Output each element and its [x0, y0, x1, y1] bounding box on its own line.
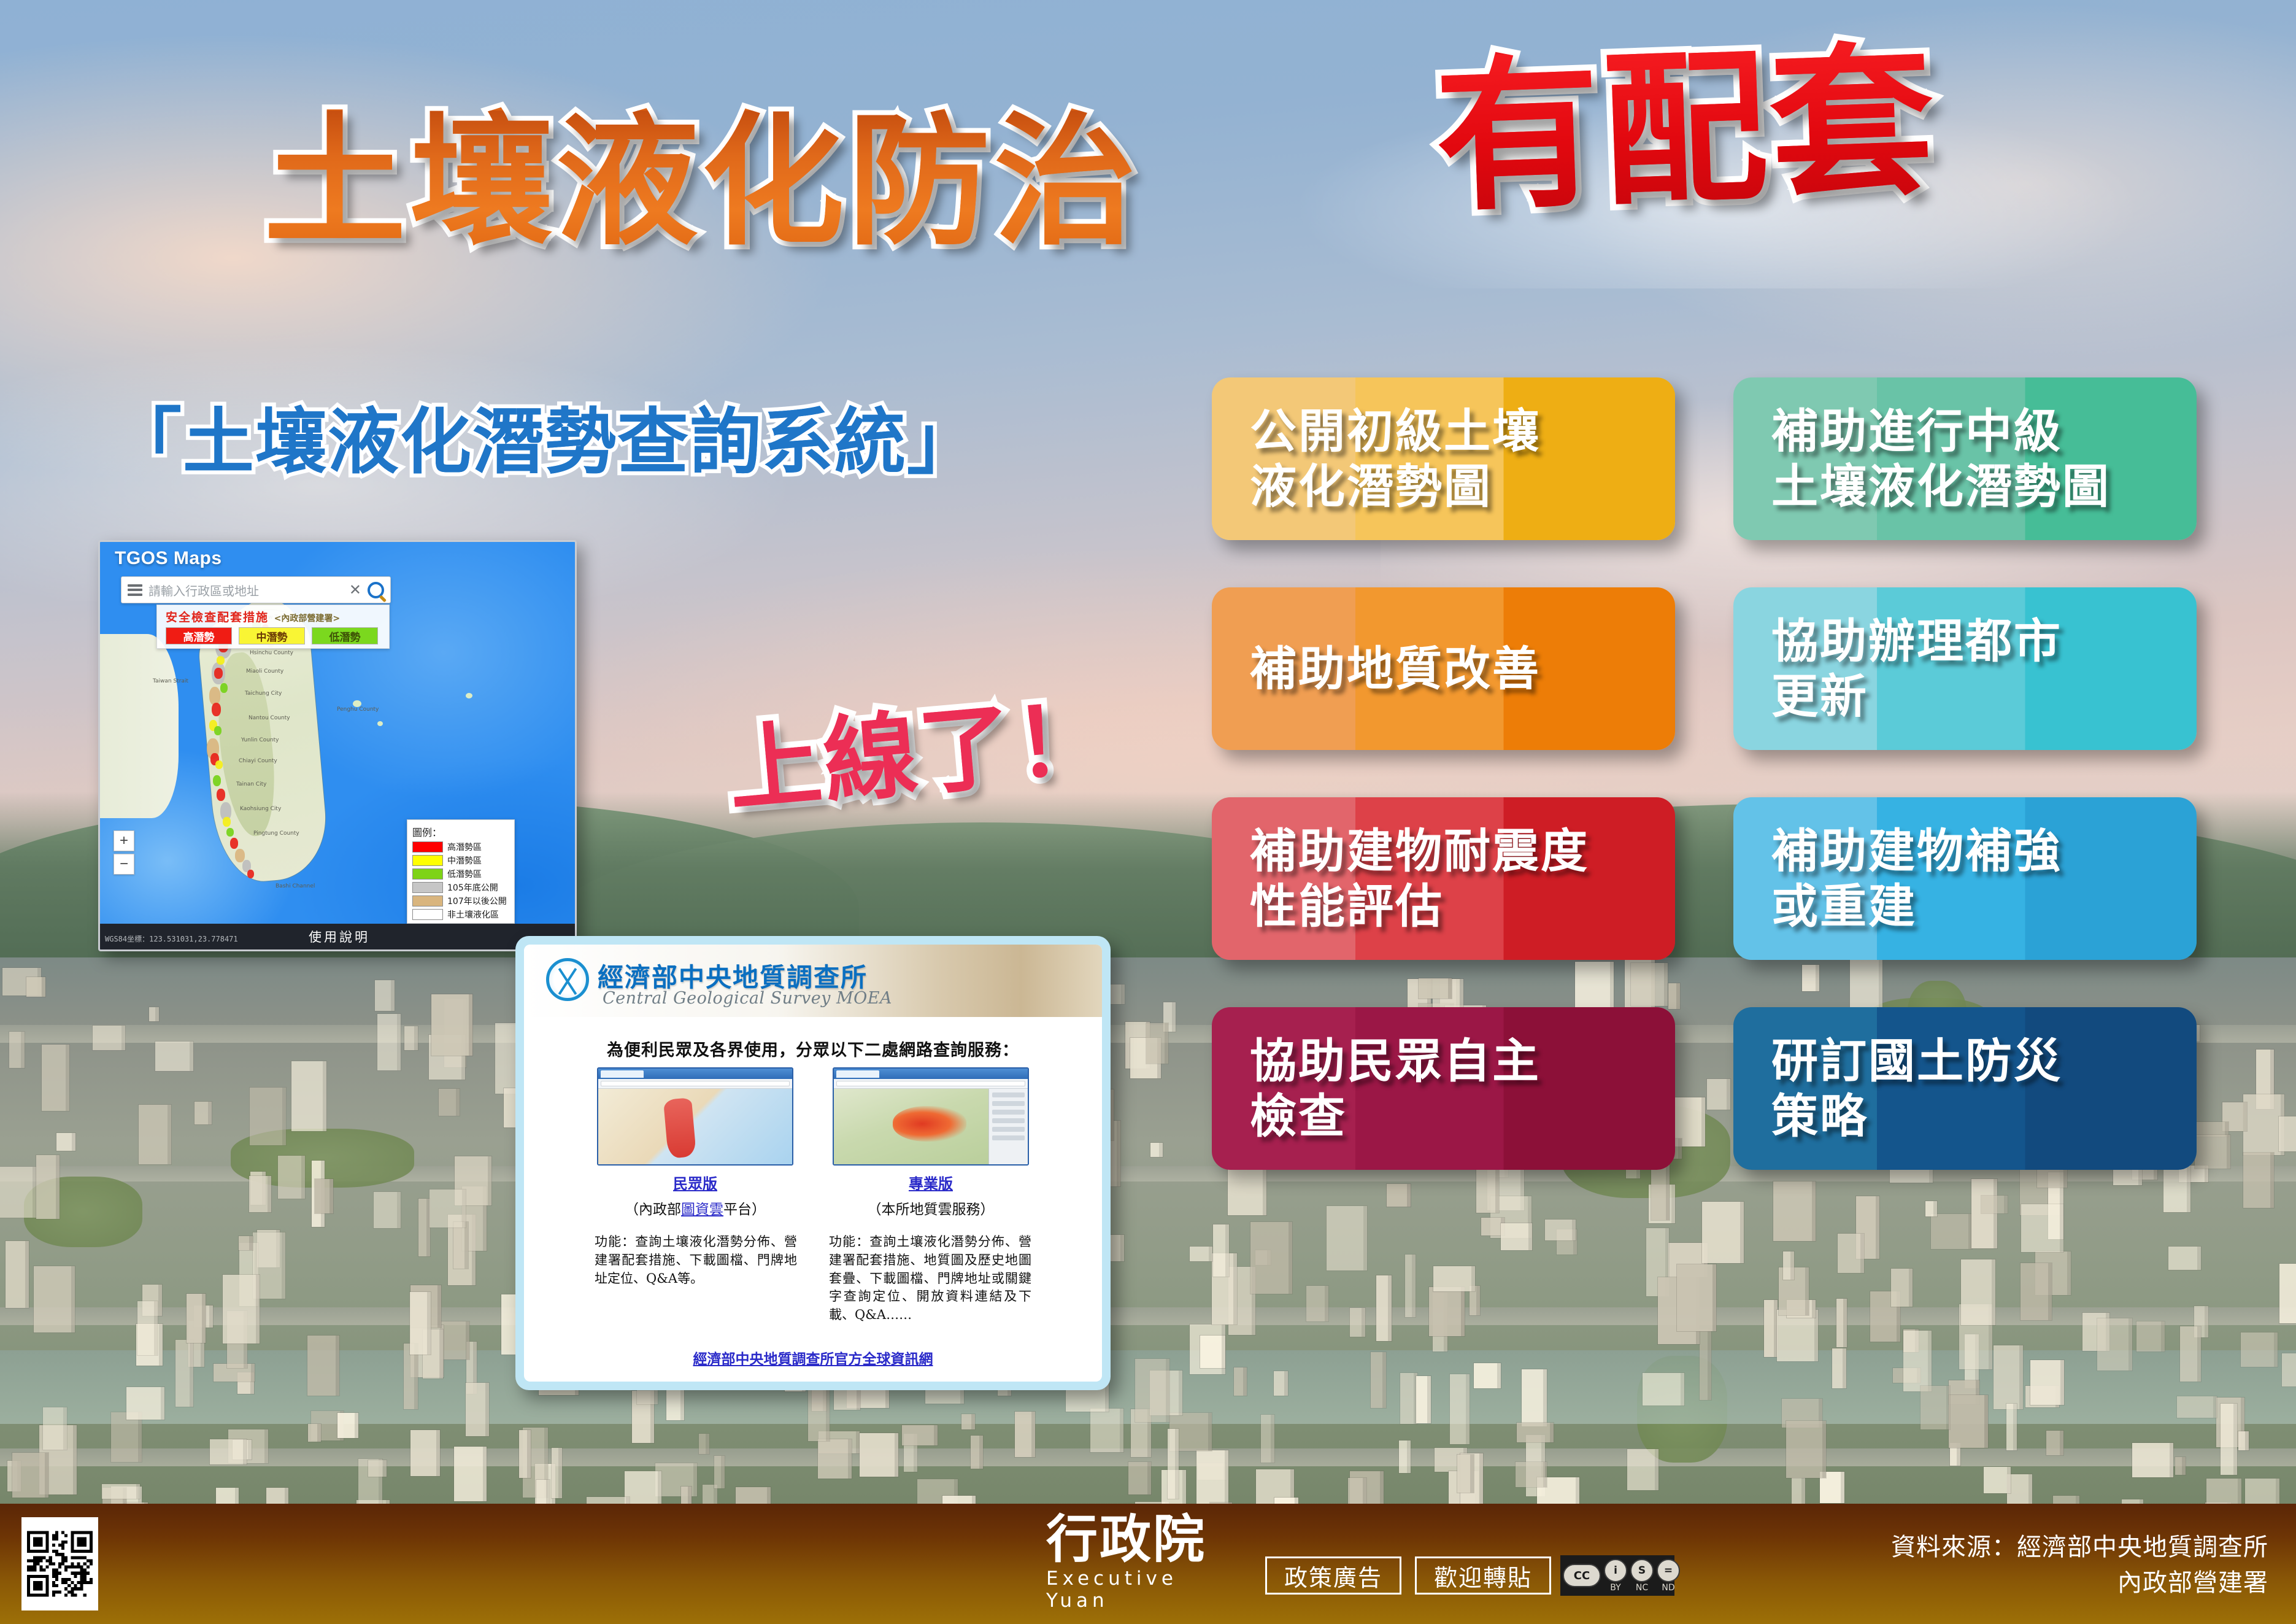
measures-agency: <內政部營建署> — [274, 614, 340, 624]
map-coordinates: WGS84坐標：123.531031,23.778471 — [105, 934, 238, 944]
city-building — [410, 1292, 431, 1355]
sub-suffix: 平台） — [723, 1202, 766, 1218]
city-building — [860, 1433, 898, 1476]
policy-ad-badge: 政策廣告 — [1265, 1556, 1401, 1595]
city-building — [1405, 1255, 1416, 1317]
share-welcome-badge: 歡迎轉貼 — [1415, 1556, 1551, 1595]
browser-tab — [601, 1070, 644, 1078]
city-building — [2177, 1396, 2217, 1418]
city-building — [552, 1448, 562, 1498]
city-building — [453, 1222, 468, 1268]
city-building — [307, 1336, 339, 1396]
city-building — [1450, 1374, 1470, 1445]
city-building — [431, 994, 472, 1055]
city-building — [56, 1133, 75, 1151]
city-building — [223, 1275, 260, 1344]
measure-card-8[interactable]: 研訂國土防災 策略 — [1733, 1007, 2197, 1170]
measure-card-label: 補助建物耐震度 性能評估 — [1212, 824, 1589, 934]
liquefaction-zone — [223, 817, 231, 827]
zoom-in-button[interactable]: + — [114, 830, 134, 851]
map-place-label: Taichung City — [245, 690, 282, 697]
liquefaction-zone — [213, 775, 221, 786]
measure-card-6[interactable]: 補助建物補強 或重建 — [1733, 797, 2197, 960]
liquefaction-zone — [217, 656, 225, 665]
city-building — [1764, 1300, 1778, 1357]
city-building — [2175, 1457, 2185, 1475]
city-building — [1522, 1369, 1547, 1426]
mini-map-public — [598, 1089, 792, 1164]
city-building — [1146, 1023, 1168, 1064]
city-building — [1213, 1224, 1229, 1277]
city-building — [1838, 1234, 1864, 1274]
city-building — [1643, 1373, 1684, 1405]
measure-button-2[interactable]: 中潛勢 — [239, 627, 305, 644]
legend-label: 中潛勢區 — [447, 854, 482, 867]
card-row: 補助地質改善協助辦理都市 更新 — [1212, 587, 2255, 750]
cgs-official-site-link[interactable]: 經濟部中央地質調查所官方全球資訊網 — [524, 1347, 1102, 1368]
city-building — [971, 1436, 983, 1469]
city-building — [2238, 1431, 2248, 1451]
measure-button-group[interactable]: 高潛勢中潛勢低潛勢 — [157, 626, 389, 644]
browser-addressbar — [598, 1079, 792, 1089]
city-building — [1920, 1386, 1950, 1429]
city-building — [1783, 1251, 1794, 1280]
card-row: 公開初級土壤 液化潛勢圖補助進行中級 土壤液化潛勢圖 — [1212, 377, 2255, 540]
city-building — [377, 1014, 401, 1070]
liquefaction-zone — [235, 849, 245, 862]
qr-code-icon[interactable] — [21, 1517, 98, 1610]
city-building — [250, 1088, 286, 1146]
city-building — [1250, 1222, 1292, 1294]
search-icon[interactable] — [368, 582, 384, 598]
usage-help-link[interactable]: 使用說明 — [309, 927, 370, 946]
legend-label: 低潛勢區 — [447, 868, 482, 880]
executive-yuan-logo: 行政院 Executive Yuan — [1046, 1515, 1224, 1613]
city-building — [1376, 1275, 1392, 1341]
city-building — [42, 1045, 69, 1111]
city-building — [430, 1189, 466, 1227]
measures-title-row: 安全檢查配套措施 <內政部營建署> — [157, 605, 389, 626]
card-row: 補助建物耐震度 性能評估補助建物補強 或重建 — [1212, 797, 2255, 960]
city-building — [291, 1061, 326, 1131]
city-building — [1261, 1415, 1274, 1463]
city-building — [1961, 1259, 1995, 1325]
city-building — [1832, 1348, 1846, 1388]
legend-title: 圖例： — [412, 824, 509, 839]
city-building — [175, 1340, 193, 1407]
city-building — [699, 1434, 709, 1454]
city-building — [2132, 1443, 2173, 1477]
browser-tab — [836, 1070, 879, 1078]
cgs-col-public: 民眾版 （內政部圖資雲平台） — [597, 1172, 793, 1218]
map-place-label: Chiayi County — [239, 758, 277, 764]
map-legend: 圖例： 高潛勢區中潛勢區低潛勢區105年底公開107年以後公開非土壤液化區 — [407, 819, 515, 924]
legend-swatch — [412, 895, 443, 907]
city-building — [195, 1102, 212, 1124]
mini-side-panel — [988, 1089, 1028, 1164]
city-building — [1306, 1286, 1328, 1321]
city-building — [1677, 1264, 1716, 1331]
measure-card-5[interactable]: 補助建物耐震度 性能評估 — [1212, 797, 1675, 960]
mini-taiwan-shape — [663, 1097, 696, 1159]
map-place-label: Hsinchu County — [250, 650, 293, 656]
island-small-a — [377, 721, 383, 726]
cgs-col-pro: 專業版 （本所地質雲服務） — [833, 1172, 1029, 1218]
city-building — [1015, 1412, 1035, 1457]
city-building — [1200, 1336, 1226, 1368]
cgs-screenshot-window[interactable]: 經濟部中央地質調查所 Central Geological Survey MOE… — [515, 936, 1111, 1390]
city-building — [1400, 1373, 1417, 1424]
liquefaction-zone — [214, 668, 223, 679]
city-building — [1994, 1345, 2023, 1409]
measure-card-2[interactable]: 補助進行中級 土壤液化潛勢圖 — [1733, 377, 2197, 540]
city-building — [1517, 1423, 1554, 1442]
liquefaction-zone — [226, 828, 234, 837]
city-building — [2221, 1404, 2237, 1475]
hamburger-icon[interactable] — [128, 584, 142, 596]
city-building — [187, 1294, 206, 1344]
map-place-label: Pingtung County — [253, 830, 299, 837]
city-building — [1786, 1421, 1826, 1478]
cc-by: iBY — [1604, 1559, 1627, 1593]
map-place-label: Bashi Channel — [275, 883, 315, 889]
link-tuziyun[interactable]: 圖資雲 — [681, 1202, 723, 1218]
city-building — [1457, 1455, 1474, 1493]
map-place-label: Nantou County — [248, 715, 290, 721]
measures-panel: 安全檢查配套措施 <內政部營建署> 高潛勢中潛勢低潛勢 — [156, 605, 390, 649]
legend-label: 高潛勢區 — [447, 841, 482, 853]
cgs-page: 經濟部中央地質調查所 Central Geological Survey MOE… — [524, 945, 1102, 1382]
measure-card-label: 補助建物補強 或重建 — [1733, 824, 2062, 934]
cgs-lead-text: 為便利民眾及各界使用，分眾以下二處網路查詢服務： — [524, 1037, 1102, 1061]
city-building — [149, 1007, 159, 1021]
city-building — [1931, 1214, 1971, 1249]
city-building — [1891, 1269, 1912, 1307]
city-building — [1516, 1462, 1547, 1487]
legend-swatch — [412, 909, 443, 920]
city-building — [368, 1460, 387, 1477]
legend-row: 非土壤液化區 — [412, 908, 509, 921]
city-building — [375, 980, 394, 1011]
map-place-label: Penghu County — [337, 706, 379, 713]
nc-label: NC — [1636, 1583, 1648, 1593]
legend-row: 107年以後公開 — [412, 895, 509, 907]
close-icon[interactable]: ✕ — [349, 581, 361, 599]
liquefaction-zone — [230, 838, 238, 849]
thumbnail-pro-version[interactable] — [833, 1067, 1029, 1166]
city-building — [266, 1488, 288, 1506]
city-building — [404, 1026, 418, 1050]
search-input[interactable]: 請輸入行政區或地址 — [148, 581, 343, 599]
mini-hotspot-overlay — [893, 1106, 966, 1142]
function-text-pro: 功能：查詢土壤液化潛勢分佈、營建署配套措施、地質圖及歷史地圖套疊、下載圖檔、門牌… — [829, 1233, 1031, 1324]
city-building — [714, 1456, 725, 1488]
city-building — [1135, 1359, 1169, 1423]
city-building — [1350, 1308, 1365, 1336]
card-row: 協助民眾自主 檢查研訂國土防災 策略 — [1212, 1007, 2255, 1170]
cgs-function-row: 功能：查詢土壤液化潛勢分佈、營建署配套措施、下載圖檔、門牌地址定位、Q&A等。 … — [524, 1233, 1102, 1324]
city-building — [337, 1413, 358, 1438]
cgs-seal-icon — [546, 958, 589, 1001]
url-field — [601, 1081, 790, 1086]
city-building — [1429, 1287, 1465, 1336]
measure-button-1[interactable]: 高潛勢 — [166, 627, 232, 644]
thumbnail-body — [598, 1089, 792, 1164]
sub-public-version: （內政部圖資雲平台） — [597, 1197, 793, 1218]
measure-card-label: 公開初級土壤 液化潛勢圖 — [1212, 404, 1541, 514]
city-building — [1150, 1143, 1163, 1157]
measure-card-label: 補助地質改善 — [1212, 641, 1541, 697]
city-building — [2006, 1404, 2017, 1450]
city-building — [1274, 1371, 1288, 1395]
city-building — [2241, 1332, 2278, 1367]
measure-card-1[interactable]: 公開初級土壤 液化潛勢圖 — [1212, 377, 1675, 540]
city-building — [2279, 1264, 2296, 1323]
city-building — [1949, 1395, 1989, 1448]
map-place-label: Miaoli County — [246, 668, 283, 675]
city-building — [1168, 1429, 1179, 1499]
liquefaction-zone — [247, 870, 254, 878]
legend-row: 高潛勢區 — [412, 841, 509, 853]
subtitle-stroke: 「土壤液化潛勢查詢系統」 — [110, 384, 979, 487]
city-building — [1501, 1223, 1532, 1250]
measure-card-label: 協助民眾自主 檢查 — [1212, 1034, 1541, 1143]
legend-swatch — [412, 841, 443, 853]
legend-row: 低潛勢區 — [412, 868, 509, 880]
city-building — [126, 1387, 164, 1420]
cc-nd: =ND — [1657, 1559, 1680, 1593]
agency-name-en: Executive Yuan — [1046, 1568, 1224, 1612]
liquefaction-zone — [214, 726, 222, 735]
measure-card-3[interactable]: 補助地質改善 — [1212, 587, 1675, 750]
city-building — [2279, 1116, 2296, 1151]
liquefaction-zone — [215, 760, 223, 769]
legend-swatch — [412, 868, 443, 880]
creative-commons-icon: CC iBY SNC =ND — [1560, 1555, 1674, 1596]
city-building — [902, 1425, 938, 1445]
measures-title: 安全檢查配套措施 — [166, 611, 269, 624]
browser-titlebar — [598, 1069, 792, 1079]
measure-card-label: 補助進行中級 土壤液化潛勢圖 — [1733, 404, 2111, 514]
map-place-label: Tainan City — [236, 781, 266, 787]
island-small-b — [466, 693, 472, 698]
measure-button-3[interactable]: 低潛勢 — [312, 627, 378, 644]
nc-disc: S — [1630, 1559, 1654, 1582]
city-building — [0, 1167, 36, 1218]
measure-card-7[interactable]: 協助民眾自主 檢查 — [1212, 1007, 1675, 1170]
nd-label: ND — [1662, 1583, 1674, 1593]
sub-pro-version: （本所地質雲服務） — [833, 1197, 1029, 1218]
city-building — [43, 1407, 67, 1450]
cc-mark: CC — [1563, 1564, 1601, 1587]
legend-row: 105年底公開 — [412, 881, 509, 894]
city-building — [519, 1430, 531, 1478]
legend-swatch — [412, 882, 443, 893]
map-place-label: Yunlin County — [241, 737, 279, 743]
map-search-bar[interactable]: 請輸入行政區或地址 ✕ — [121, 576, 391, 603]
thumbnail-public-version[interactable] — [597, 1067, 793, 1166]
city-building — [308, 1424, 321, 1442]
zoom-controls[interactable]: + − — [114, 830, 134, 877]
mini-map-pro — [834, 1089, 1028, 1164]
page-footer: 行政院 Executive Yuan 政策廣告 歡迎轉貼 CC iBY SNC … — [0, 1504, 2296, 1624]
nd-disc: = — [1657, 1559, 1680, 1582]
city-building — [1984, 1467, 2011, 1493]
city-building — [93, 1026, 125, 1050]
city-building — [1474, 1363, 1501, 1388]
legend-label: 非土壤液化區 — [447, 908, 499, 921]
city-building — [137, 1301, 158, 1355]
city-building — [418, 1199, 430, 1256]
city-building — [34, 1266, 75, 1332]
cgs-label-row: 民眾版 （內政部圖資雲平台） 專業版 （本所地質雲服務） — [524, 1172, 1102, 1218]
city-building — [249, 1176, 271, 1212]
city-building — [1627, 1449, 1658, 1490]
city-building — [961, 1414, 975, 1429]
city-building — [2021, 1263, 2052, 1320]
city-building — [2046, 1431, 2063, 1456]
city-building — [1903, 1331, 1932, 1391]
city-building — [315, 1179, 334, 1213]
function-text-public: 功能：查詢土壤液化潛勢分佈、營建署配套措施、下載圖檔、門牌地址定位、Q&A等。 — [595, 1233, 797, 1324]
city-building — [1416, 1376, 1431, 1423]
cc-disc: CC — [1563, 1564, 1601, 1587]
city-building — [1371, 1352, 1386, 1407]
city-building — [210, 1439, 247, 1465]
city-building — [1190, 1247, 1212, 1262]
headline-group: 土壤液化防治 土壤液化防治 有配套 有配套 — [0, 25, 2296, 184]
city-building — [374, 1192, 401, 1229]
headline-main-stroke: 土壤液化防治 — [264, 110, 1140, 253]
by-disc: i — [1604, 1559, 1627, 1582]
city-building — [466, 1383, 489, 1436]
map-screenshot-window[interactable]: New Taipei CityTaoyuan CityHsinchu Count… — [98, 540, 577, 951]
sub-prefix: （內政部 — [625, 1202, 681, 1218]
thumbnail-body — [834, 1089, 1028, 1164]
liquefaction-zone — [217, 789, 225, 801]
city-building — [1399, 1440, 1411, 1473]
city-building — [454, 1447, 487, 1502]
city-building — [36, 1155, 60, 1219]
city-building — [439, 1089, 459, 1116]
city-building — [139, 1105, 172, 1164]
city-building — [2180, 1326, 2202, 1381]
city-building — [2168, 1247, 2202, 1270]
browser-addressbar — [834, 1079, 1028, 1089]
city-building — [1545, 1220, 1576, 1240]
city-building — [278, 1156, 305, 1199]
liquefaction-zone — [212, 703, 221, 716]
city-building — [12, 1453, 48, 1498]
city-building — [440, 1321, 470, 1359]
city-building — [1836, 1299, 1847, 1347]
city-building — [155, 1042, 193, 1071]
source-line-2: 內政部營建署 — [1891, 1565, 2268, 1601]
legend-label: 107年以後公開 — [447, 895, 507, 907]
measure-card-label: 研訂國土防災 策略 — [1733, 1034, 2062, 1143]
measure-cards-grid: 公開初級土壤 液化潛勢圖補助進行中級 土壤液化潛勢圖補助地質改善協助辦理都市 更… — [1212, 377, 2255, 1217]
mainland-coast — [100, 634, 179, 818]
city-building — [818, 1439, 852, 1479]
map-place-label: Taiwan Strait — [153, 678, 188, 684]
city-building — [2030, 1360, 2064, 1405]
city-building — [9, 1032, 25, 1068]
city-building — [1090, 1409, 1123, 1452]
city-building — [26, 977, 45, 997]
city-building — [1433, 1266, 1476, 1291]
legend-label: 105年底公開 — [447, 881, 498, 894]
legend-swatch — [412, 855, 443, 866]
city-building — [2282, 1353, 2296, 1386]
url-field — [836, 1081, 1025, 1086]
cgs-thumbnail-row — [524, 1067, 1102, 1166]
source-line-1: 資料來源：經濟部中央地質調查所 — [1891, 1529, 2268, 1565]
legend-row: 中潛勢區 — [412, 854, 509, 867]
headline-accent-stroke: 有配套 — [1433, 39, 1940, 221]
link-pro-version[interactable]: 專業版 — [833, 1172, 1029, 1193]
cgs-org-name-en: Central Geological Survey MOEA — [603, 989, 892, 1008]
map-title: TGOS Maps — [115, 548, 222, 569]
by-label: BY — [1610, 1583, 1620, 1593]
cc-nc: SNC — [1630, 1559, 1654, 1593]
city-building — [1196, 1450, 1228, 1510]
city-building — [239, 1236, 253, 1250]
legend-rows: 高潛勢區中潛勢區低潛勢區105年底公開107年以後公開非土壤液化區 — [412, 841, 509, 921]
city-building — [6, 1241, 29, 1307]
agency-name-cn: 行政院 — [1046, 1515, 1224, 1564]
city-building — [1234, 1367, 1247, 1396]
map-place-label: Kaohsiung City — [240, 806, 281, 812]
city-building — [2097, 1318, 2132, 1371]
city-building — [410, 1430, 439, 1476]
city-building — [102, 1484, 140, 1498]
data-source-note: 資料來源：經濟部中央地質調查所 內政部營建署 — [1891, 1529, 2268, 1601]
city-building — [1700, 1329, 1712, 1399]
link-public-version[interactable]: 民眾版 — [597, 1172, 793, 1193]
city-building — [2136, 1321, 2165, 1351]
zoom-out-button[interactable]: − — [114, 854, 134, 875]
browser-titlebar — [834, 1069, 1028, 1079]
city-building — [1128, 1462, 1151, 1494]
city-road — [0, 1307, 2296, 1325]
measure-card-label: 協助辦理都市 更新 — [1733, 614, 2062, 724]
measure-card-4[interactable]: 協助辦理都市 更新 — [1733, 587, 2197, 750]
liquefaction-zone — [220, 683, 228, 693]
